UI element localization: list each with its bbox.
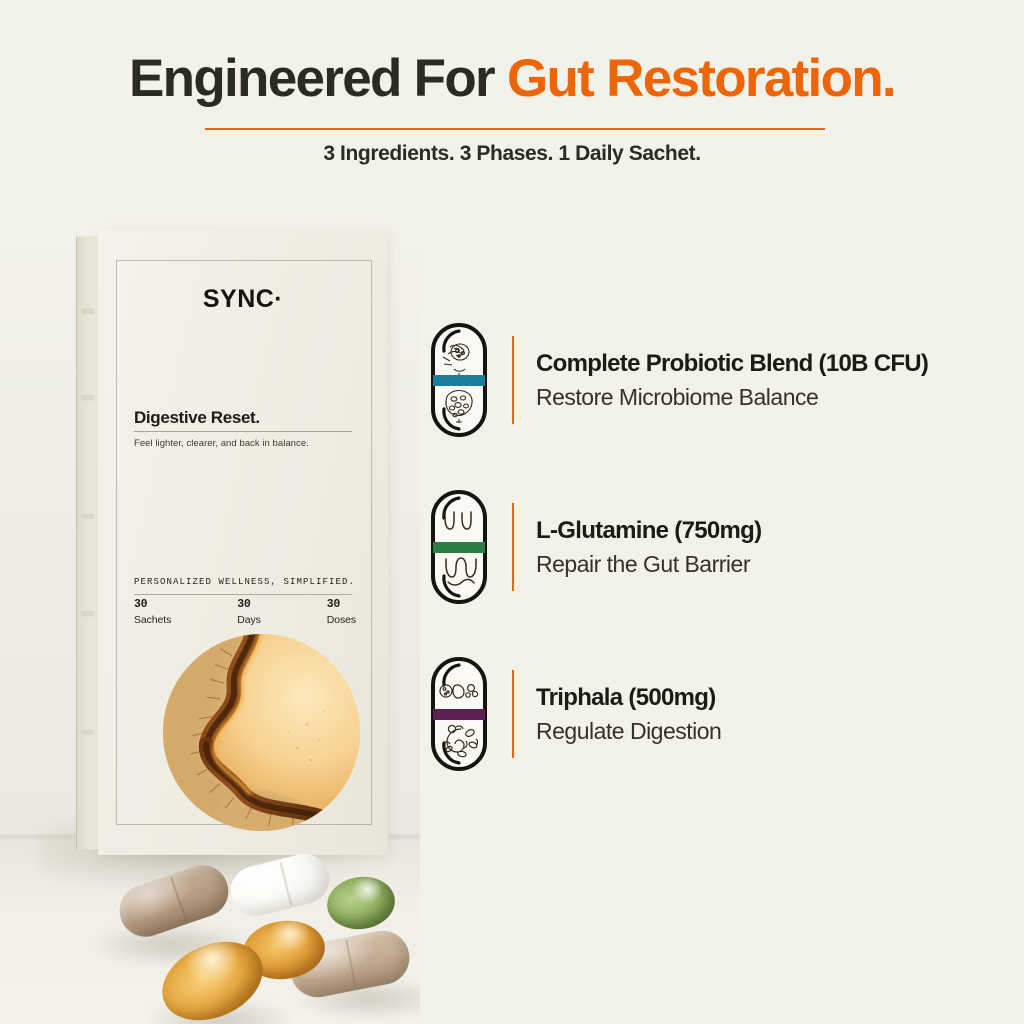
- feature-accent-bar: [512, 670, 514, 758]
- green-softgel: [324, 873, 399, 934]
- capsule-triphala-icon: [428, 655, 490, 773]
- capsule-glutamine-icon: [428, 488, 490, 606]
- page-title: Engineered For Gut Restoration.: [0, 52, 1024, 106]
- white-capsule: [225, 849, 334, 922]
- capsule-probiotic-icon: [428, 321, 490, 439]
- feature-text-block: Complete Probiotic Blend (10B CFU) Resto…: [536, 349, 928, 411]
- product-photo: SYNC· Digestive Reset. Feel lighter, cle…: [0, 180, 420, 1024]
- feature-text-block: Triphala (500mg) Regulate Digestion: [536, 683, 721, 745]
- feature-accent-bar: [512, 336, 514, 424]
- headline-divider-rule: [205, 128, 825, 130]
- feature-subtitle: Restore Microbiome Balance: [536, 383, 928, 412]
- product-marketing-graphic: Engineered For Gut Restoration. 3 Ingred…: [0, 0, 1024, 1024]
- feature-title: Complete Probiotic Blend (10B CFU): [536, 349, 928, 379]
- feature-subtitle: Repair the Gut Barrier: [536, 550, 761, 579]
- feature-title: Triphala (500mg): [536, 683, 721, 713]
- feature-item-glutamine: L-Glutamine (750mg) Repair the Gut Barri…: [428, 483, 1024, 611]
- loose-pills-group: [0, 180, 420, 1024]
- feature-title: L-Glutamine (750mg): [536, 516, 761, 546]
- headline-accent-text: Gut Restoration.: [507, 49, 895, 108]
- headline-leading-text: Engineered For: [129, 49, 507, 108]
- feature-accent-bar: [512, 503, 514, 591]
- ingredient-feature-list: Complete Probiotic Blend (10B CFU) Resto…: [428, 316, 1024, 778]
- feature-subtitle: Regulate Digestion: [536, 717, 721, 746]
- feature-item-triphala: Triphala (500mg) Regulate Digestion: [428, 650, 1024, 778]
- feature-text-block: L-Glutamine (750mg) Repair the Gut Barri…: [536, 516, 761, 578]
- feature-item-probiotic: Complete Probiotic Blend (10B CFU) Resto…: [428, 316, 1024, 444]
- subheadline: 3 Ingredients. 3 Phases. 1 Daily Sachet.: [0, 142, 1024, 166]
